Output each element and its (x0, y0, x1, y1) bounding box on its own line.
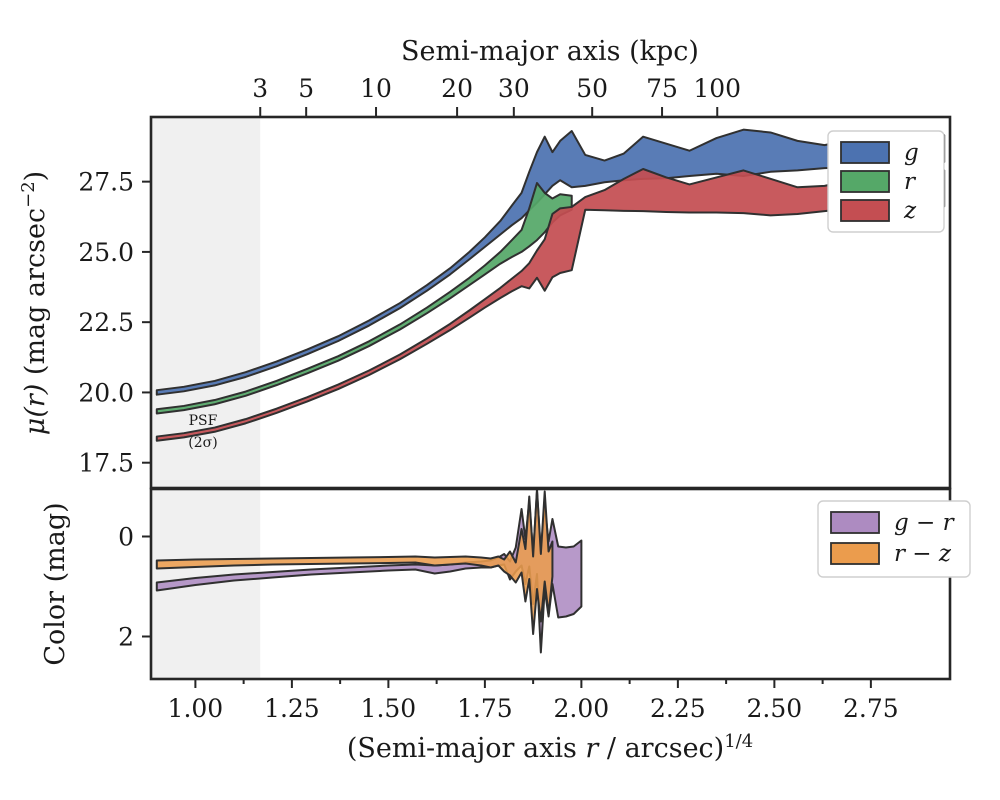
xticklabel-2.75: 2.75 (843, 694, 899, 723)
xticklabel-1.75: 1.75 (457, 694, 513, 723)
xlabel-part-main: (Semi-major axis (347, 733, 586, 764)
yticklabel-27.5: 27.5 (78, 168, 134, 197)
kpcticklabel-30: 30 (498, 74, 530, 103)
bottom-x-axis-label: (Semi-major axis r / arcsec)1/4 (347, 731, 753, 765)
band-legend-swatch-2 (841, 200, 889, 221)
xticklabel-1.00: 1.00 (168, 694, 224, 723)
band-legend-swatch-1 (841, 171, 889, 192)
kpcticklabel-20: 20 (441, 74, 473, 103)
kpcticklabel-10: 10 (360, 74, 392, 103)
lower-y-axis-label: Color (mag) (40, 502, 71, 665)
psf-annotation-line1: PSF (189, 413, 218, 429)
kpcticklabel-5: 5 (298, 74, 314, 103)
color-legend-label-0: g − r (894, 510, 956, 536)
xticklabel-2.25: 2.25 (650, 694, 706, 723)
plot-canvas: 1.001.251.501.752.002.252.502.7517.520.0… (0, 0, 1000, 800)
yticklabel-22.5: 22.5 (78, 308, 134, 337)
xticklabel-2.00: 2.00 (554, 694, 610, 723)
yticklabel-17.5: 17.5 (78, 449, 134, 478)
kpcticklabel-75: 75 (646, 74, 678, 103)
band-legend-label-0: g (904, 140, 919, 166)
band-legend-swatch-0 (841, 142, 889, 163)
kpcticklabel-3: 3 (252, 74, 268, 103)
color-legend-swatch-0 (831, 512, 879, 533)
color-legend-label-1: r − z (894, 541, 952, 567)
xlabel-part-tail: / arcsec) (598, 733, 724, 764)
top-x-axis-label: Semi-major axis (kpc) (401, 36, 699, 67)
xticklabel-2.50: 2.50 (747, 694, 803, 723)
psf-annotation-line2: (2σ) (188, 435, 217, 451)
color-legend-swatch-1 (831, 543, 879, 564)
band-legend-label-2: z (903, 198, 917, 224)
yticklabel-color-0: 0 (118, 523, 134, 552)
surface-brightness-bands (157, 130, 944, 441)
psf-shaded-region (151, 117, 260, 679)
yticklabel-color-2: 2 (118, 623, 134, 652)
color-legend[interactable]: g − rr − z (818, 501, 970, 577)
band-legend[interactable]: grz (828, 131, 944, 232)
upper-y-axis-label: μ(r) (mag arcsec−2) (18, 171, 52, 435)
yticklabel-20.0: 20.0 (78, 378, 134, 407)
yticklabel-25.0: 25.0 (78, 238, 134, 267)
kpcticklabel-100: 100 (693, 74, 741, 103)
figure-root: 1.001.251.501.752.002.252.502.7517.520.0… (0, 0, 1000, 800)
xticklabel-1.25: 1.25 (264, 694, 320, 723)
xlabel-part-exp: 1/4 (724, 731, 753, 752)
xticklabel-1.50: 1.50 (361, 694, 417, 723)
kpcticklabel-50: 50 (576, 74, 608, 103)
